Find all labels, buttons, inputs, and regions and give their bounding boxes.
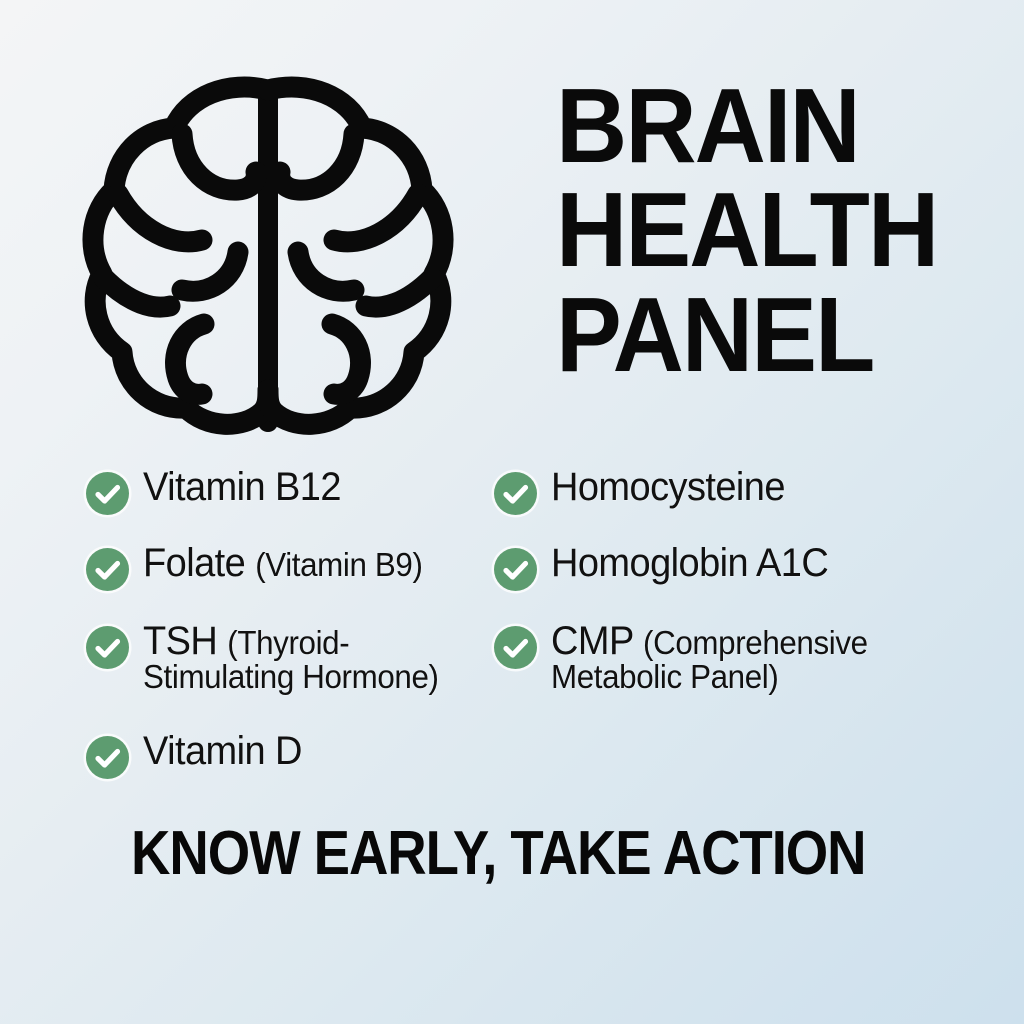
list-item-label: TSH (Thyroid-Stimulating Hormone) (143, 620, 439, 695)
check-circle-icon (494, 548, 537, 591)
brain-health-panel-poster: BRAIN HEALTH PANEL Vitamin B12 Folate (V… (0, 0, 1024, 1024)
list-item: Vitamin B12 (86, 466, 351, 515)
list-item-label: Homoglobin A1C (551, 542, 828, 584)
list-item: CMP (ComprehensiveMetabolic Panel) (494, 620, 884, 695)
title-line-2: HEALTH (556, 178, 947, 282)
list-item: Vitamin D (86, 730, 310, 779)
title-line-1: BRAIN (556, 74, 947, 178)
page-title: BRAIN HEALTH PANEL (556, 74, 976, 387)
check-circle-icon (86, 736, 129, 779)
title-line-3: PANEL (556, 283, 947, 387)
list-item: Homoglobin A1C (494, 542, 843, 591)
list-item: Folate (Vitamin B9) (86, 542, 437, 591)
check-circle-icon (86, 472, 129, 515)
check-circle-icon (494, 472, 537, 515)
list-item-label: Vitamin B12 (143, 466, 341, 508)
list-item-label: Homocysteine (551, 466, 785, 508)
list-item-label: CMP (ComprehensiveMetabolic Panel) (551, 620, 868, 695)
tagline-text: KNOW EARLY, TAKE ACTION (131, 818, 866, 889)
brain-icon-right-hemisphere (78, 72, 458, 440)
check-circle-icon (494, 626, 537, 669)
check-circle-icon (86, 626, 129, 669)
list-item-label: Folate (Vitamin B9) (143, 542, 423, 584)
list-item-label: Vitamin D (143, 730, 302, 772)
list-item: Homocysteine (494, 466, 797, 515)
check-circle-icon (86, 548, 129, 591)
tagline: KNOW EARLY, TAKE ACTION (0, 818, 1024, 889)
list-item: TSH (Thyroid-Stimulating Hormone) (86, 620, 454, 695)
